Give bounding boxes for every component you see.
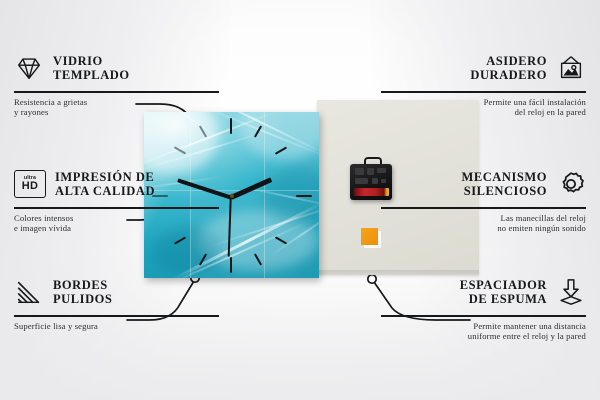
feature-description: Colores intensose imagen vívida [14, 213, 219, 234]
feature-title: ASIDERODURADERO [470, 54, 547, 82]
feature-title: VIDRIOTEMPLADO [53, 54, 130, 82]
clock-marker [230, 257, 232, 273]
feature-divider [381, 315, 586, 317]
feature-durable-hanger[interactable]: ASIDERODURADERO Permite una fácil instal… [381, 48, 586, 118]
feature-divider [14, 207, 219, 209]
ultra-hd-icon-main-label: HD [22, 181, 39, 192]
feature-header: VIDRIOTEMPLADO [14, 48, 219, 88]
clock-marker [296, 195, 312, 197]
hatched-edge-icon [14, 277, 44, 307]
feature-polished-edges[interactable]: BORDESPULIDOS Superficie lisa y segura [14, 272, 219, 331]
feature-foam-spacer[interactable]: ESPACIADORDE ESPUMA Permite mantener una… [381, 272, 586, 342]
foam-spacer-piece [361, 228, 378, 245]
press-down-arrow-icon [556, 277, 586, 307]
feature-header: BORDESPULIDOS [14, 272, 219, 312]
feature-description: Superficie lisa y segura [14, 321, 219, 332]
feature-tempered-glass[interactable]: VIDRIOTEMPLADO Resistencia a grietasy ra… [14, 48, 219, 118]
feature-divider [14, 315, 219, 317]
feature-header: MECANISMOSILENCIOSO [381, 164, 586, 204]
feature-divider [381, 207, 586, 209]
feature-divider [381, 91, 586, 93]
feature-silent-mechanism[interactable]: MECANISMOSILENCIOSO Las manecillas del r… [381, 164, 586, 234]
feature-title: ESPACIADORDE ESPUMA [460, 278, 547, 306]
feature-description: Resistencia a grietasy rayones [14, 97, 219, 118]
clock-center-pin [230, 194, 234, 198]
feature-title: BORDESPULIDOS [53, 278, 112, 306]
feature-header: ultra HD IMPRESIÓN DEALTA CALIDAD [14, 164, 219, 204]
feature-divider [14, 91, 219, 93]
feature-description: Permite una fácil instalacióndel reloj e… [381, 97, 586, 118]
framed-picture-hanger-icon [556, 53, 586, 83]
diamond-icon [14, 53, 44, 83]
feature-title: MECANISMOSILENCIOSO [461, 170, 547, 198]
feature-header: ESPACIADORDE ESPUMA [381, 272, 586, 312]
gear-icon [556, 169, 586, 199]
ultra-hd-icon: ultra HD [14, 170, 46, 198]
feature-high-quality-print[interactable]: ultra HD IMPRESIÓN DEALTA CALIDAD Colore… [14, 164, 219, 234]
feature-header: ASIDERODURADERO [381, 48, 586, 88]
feature-description: Las manecillas del relojno emiten ningún… [381, 213, 586, 234]
feature-description: Permite mantener una distanciauniforme e… [381, 321, 586, 342]
infographic-canvas: VIDRIOTEMPLADO Resistencia a grietasy ra… [0, 0, 600, 400]
feature-title: IMPRESIÓN DEALTA CALIDAD [55, 170, 155, 198]
clock-marker [230, 118, 232, 134]
